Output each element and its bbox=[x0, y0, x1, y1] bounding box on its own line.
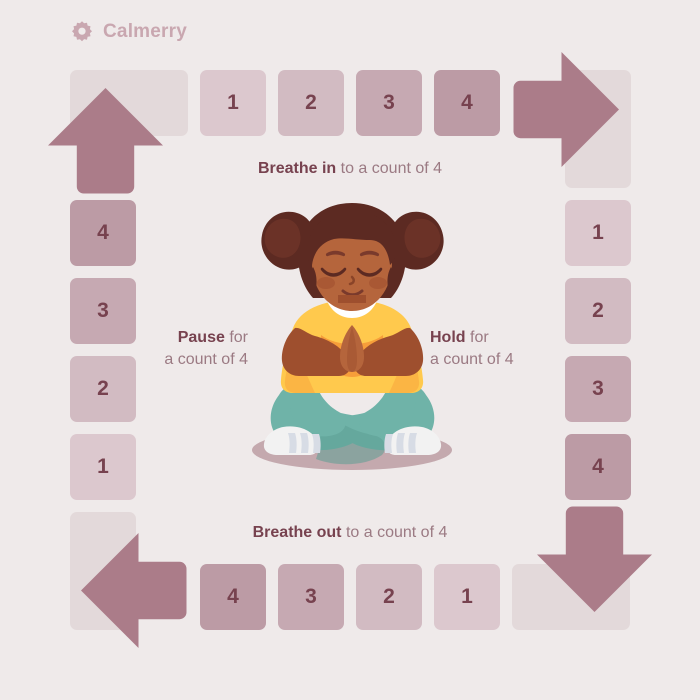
step-box-bottom-3[interactable]: 3 bbox=[278, 564, 344, 630]
label-pause: Pause for a count of 4 bbox=[0, 327, 248, 370]
step-box-bottom-1[interactable]: 1 bbox=[434, 564, 500, 630]
box-breathing-infographic: Calmerry 1 2 3 4 Breathe in to a count o… bbox=[0, 0, 700, 700]
step-box-right-1[interactable]: 1 bbox=[565, 200, 631, 266]
step-box-bottom-2[interactable]: 2 bbox=[356, 564, 422, 630]
brand-logo[interactable]: Calmerry bbox=[70, 20, 187, 44]
head bbox=[261, 203, 443, 311]
label-breathe-out-rest: to a count of 4 bbox=[342, 524, 448, 541]
flower-gear-icon bbox=[70, 20, 94, 44]
label-pause-bold: Pause bbox=[178, 329, 225, 346]
step-box-top-3[interactable]: 3 bbox=[356, 70, 422, 136]
brand-name: Calmerry bbox=[103, 21, 187, 43]
down-arrow-icon bbox=[537, 506, 652, 612]
meditating-person-illustration bbox=[235, 195, 470, 485]
label-breathe-out-bold: Breathe out bbox=[253, 524, 342, 541]
step-box-top-2[interactable]: 2 bbox=[278, 70, 344, 136]
step-box-top-4[interactable]: 4 bbox=[434, 70, 500, 136]
step-box-right-4[interactable]: 4 bbox=[565, 434, 631, 500]
left-arrow-icon bbox=[81, 533, 187, 648]
label-breathe-in-bold: Breathe in bbox=[258, 160, 336, 177]
arms bbox=[282, 325, 423, 376]
label-pause-line2: a count of 4 bbox=[0, 349, 248, 371]
label-pause-line1: Pause for bbox=[0, 327, 248, 349]
label-breathe-in: Breathe in to a count of 4 bbox=[0, 158, 700, 180]
label-breathe-in-rest: to a count of 4 bbox=[336, 160, 442, 177]
step-box-top-1[interactable]: 1 bbox=[200, 70, 266, 136]
step-box-left-4[interactable]: 4 bbox=[70, 200, 136, 266]
step-box-bottom-4[interactable]: 4 bbox=[200, 564, 266, 630]
step-box-left-1[interactable]: 1 bbox=[70, 434, 136, 500]
right-arrow-icon bbox=[513, 52, 619, 167]
